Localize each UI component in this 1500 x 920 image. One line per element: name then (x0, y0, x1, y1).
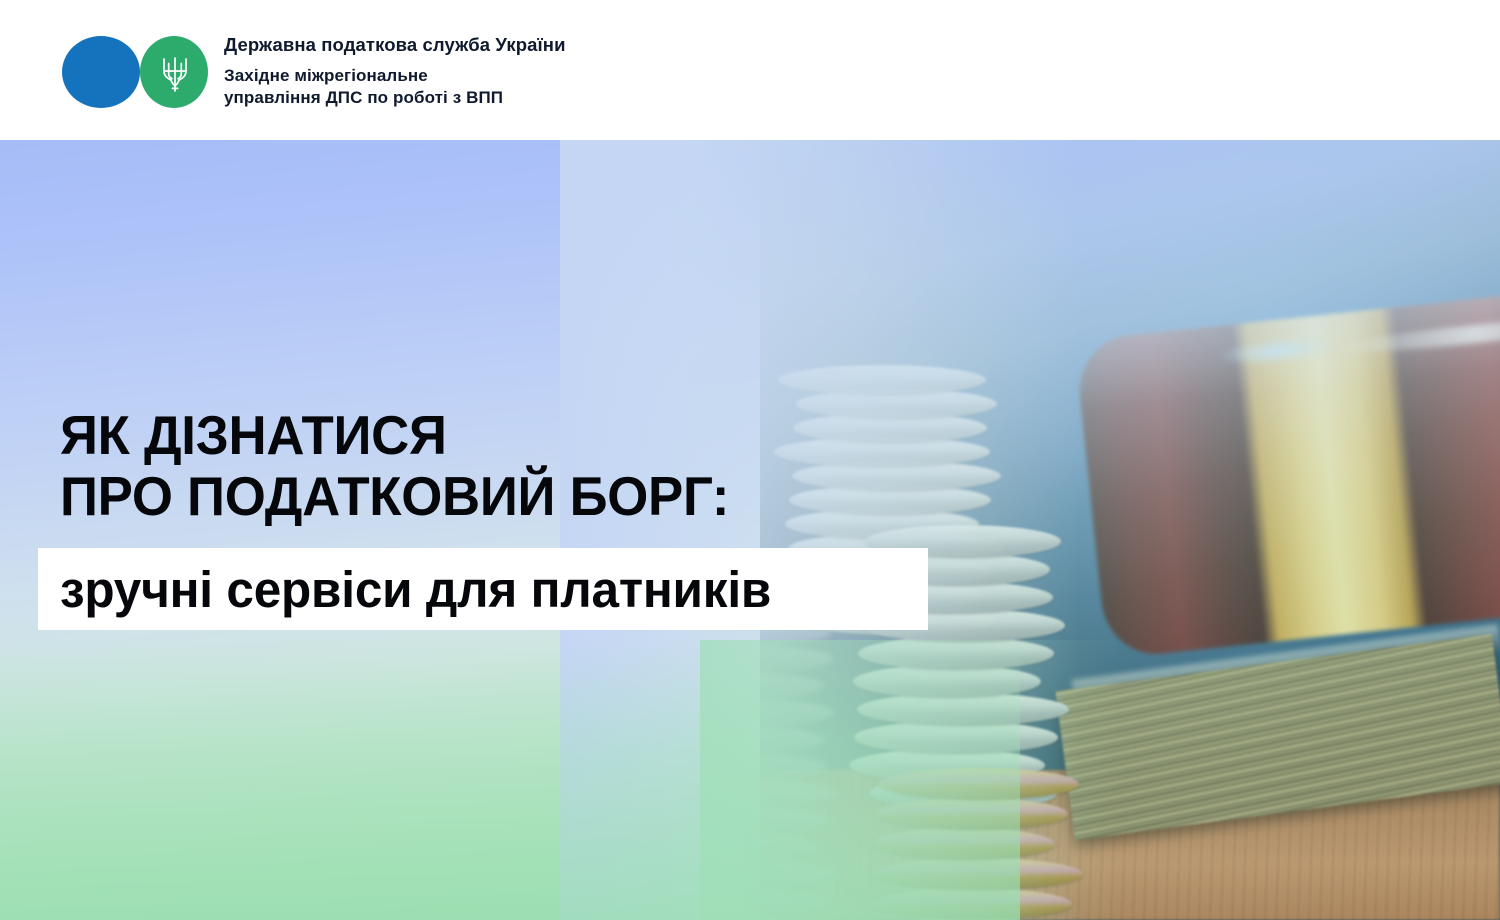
coin (876, 798, 1068, 830)
headline-block: ЯК ДІЗНАТИСЯ ПРО ПОДАТКОВИЙ БОРГ: (60, 405, 757, 527)
agency-name-secondary-line2: управління ДПС по роботі з ВПП (224, 87, 924, 109)
header-bar: Державна податкова служба України Західн… (0, 0, 1500, 140)
coin (778, 365, 987, 395)
coin (656, 861, 840, 889)
coin (659, 780, 837, 808)
coin (873, 828, 1056, 860)
judge-gavel (1074, 291, 1500, 669)
coin (857, 693, 1069, 726)
agency-name-block: Державна податкова служба України Західн… (224, 32, 924, 109)
agency-logo[interactable] (62, 36, 210, 108)
coin (872, 888, 1073, 920)
coin (652, 834, 818, 862)
hero-photo (0, 140, 1500, 920)
coin (874, 858, 1084, 890)
coin (656, 807, 828, 835)
coin (662, 699, 834, 727)
coin (650, 645, 834, 673)
promo-banner: Державна податкова служба України Західн… (0, 0, 1500, 920)
coin (878, 768, 1079, 800)
logo-blue-circle-icon (62, 36, 140, 108)
coin (659, 726, 825, 754)
headline-line-2: ПРО ПОДАТКОВИЙ БОРГ: (60, 466, 729, 527)
ukrainian-trident-emblem-icon (160, 54, 190, 92)
agency-name-secondary-line1: Західне міжрегіональне (224, 65, 924, 87)
subtitle-text: зручні сервіси для платників (60, 560, 771, 620)
coin-stack-gold (862, 760, 1077, 920)
coin (653, 888, 831, 916)
coin (646, 672, 824, 700)
headline-line-1: ЯК ДІЗНАТИСЯ (60, 405, 729, 466)
agency-name-primary: Державна податкова служба України (224, 32, 924, 58)
coin (643, 753, 827, 781)
